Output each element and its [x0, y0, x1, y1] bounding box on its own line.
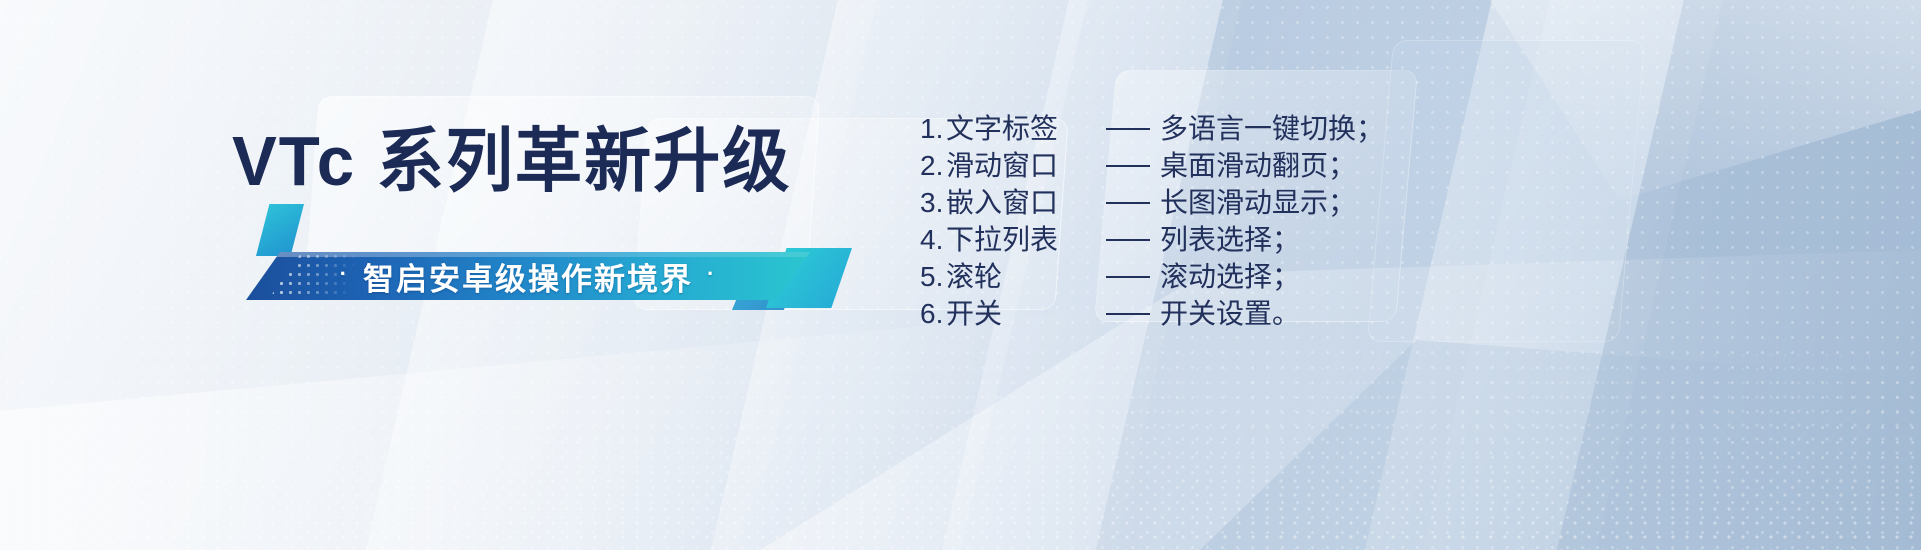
- feature-number: 2.: [920, 147, 946, 184]
- feature-name: 嵌入窗口: [946, 184, 1096, 221]
- list-item: 5. 滚轮 滚动选择；: [920, 258, 1384, 295]
- feature-list: 1. 文字标签 多语言一键切换； 2. 滑动窗口 桌面滑动翻页； 3. 嵌入窗口…: [920, 110, 1384, 332]
- bullet-dot-left-icon: ·: [340, 263, 349, 285]
- bullet-dot-right-icon: ·: [707, 263, 716, 285]
- feature-description: 多语言一键切换；: [1160, 110, 1384, 147]
- feature-number: 4.: [920, 221, 946, 258]
- background-wedge-3: [1200, 340, 1921, 550]
- feature-description: 列表选择；: [1160, 221, 1300, 258]
- list-item: 3. 嵌入窗口 长图滑动显示；: [920, 184, 1384, 221]
- list-item: 1. 文字标签 多语言一键切换；: [920, 110, 1384, 147]
- feature-description: 开关设置。: [1160, 295, 1300, 332]
- list-item: 4. 下拉列表 列表选择；: [920, 221, 1384, 258]
- feature-number: 6.: [920, 295, 946, 332]
- background-wedge-4: [1490, 0, 1921, 200]
- list-item: 2. 滑动窗口 桌面滑动翻页；: [920, 147, 1384, 184]
- dash-separator-icon: [1096, 276, 1160, 278]
- feature-description: 滚动选择；: [1160, 258, 1300, 295]
- feature-number: 1.: [920, 110, 946, 147]
- feature-number: 5.: [920, 258, 946, 295]
- background-card-4: [1367, 40, 1645, 342]
- subtitle-text: 智启安卓级操作新境界: [363, 254, 693, 299]
- ribbon-accent-left-shape: [256, 204, 304, 256]
- dash-separator-icon: [1096, 165, 1160, 167]
- dash-separator-icon: [1096, 313, 1160, 315]
- page-title: VTc 系列革新升级: [232, 126, 791, 196]
- subtitle-ribbon: · 智启安卓级操作新境界 ·: [246, 204, 846, 308]
- subtitle-text-row: · 智启安卓级操作新境界 ·: [246, 252, 810, 300]
- feature-number: 3.: [920, 184, 946, 221]
- list-item: 6. 开关 开关设置。: [920, 295, 1384, 332]
- feature-name: 下拉列表: [946, 221, 1096, 258]
- feature-description: 桌面滑动翻页；: [1160, 147, 1356, 184]
- feature-name: 开关: [946, 295, 1096, 332]
- feature-name: 滚轮: [946, 258, 1096, 295]
- background-panel-3: [1493, 0, 1921, 550]
- feature-description: 长图滑动显示；: [1160, 184, 1356, 221]
- promo-banner: VTc 系列革新升级 · 智启安卓级操作新境界 · 1. 文字标签 多语言一键切…: [0, 0, 1921, 550]
- dash-separator-icon: [1096, 128, 1160, 130]
- feature-name: 滑动窗口: [946, 147, 1096, 184]
- headline-block: VTc 系列革新升级 · 智启安卓级操作新境界 ·: [0, 0, 900, 550]
- feature-name: 文字标签: [946, 110, 1096, 147]
- dash-separator-icon: [1096, 239, 1160, 241]
- dash-separator-icon: [1096, 202, 1160, 204]
